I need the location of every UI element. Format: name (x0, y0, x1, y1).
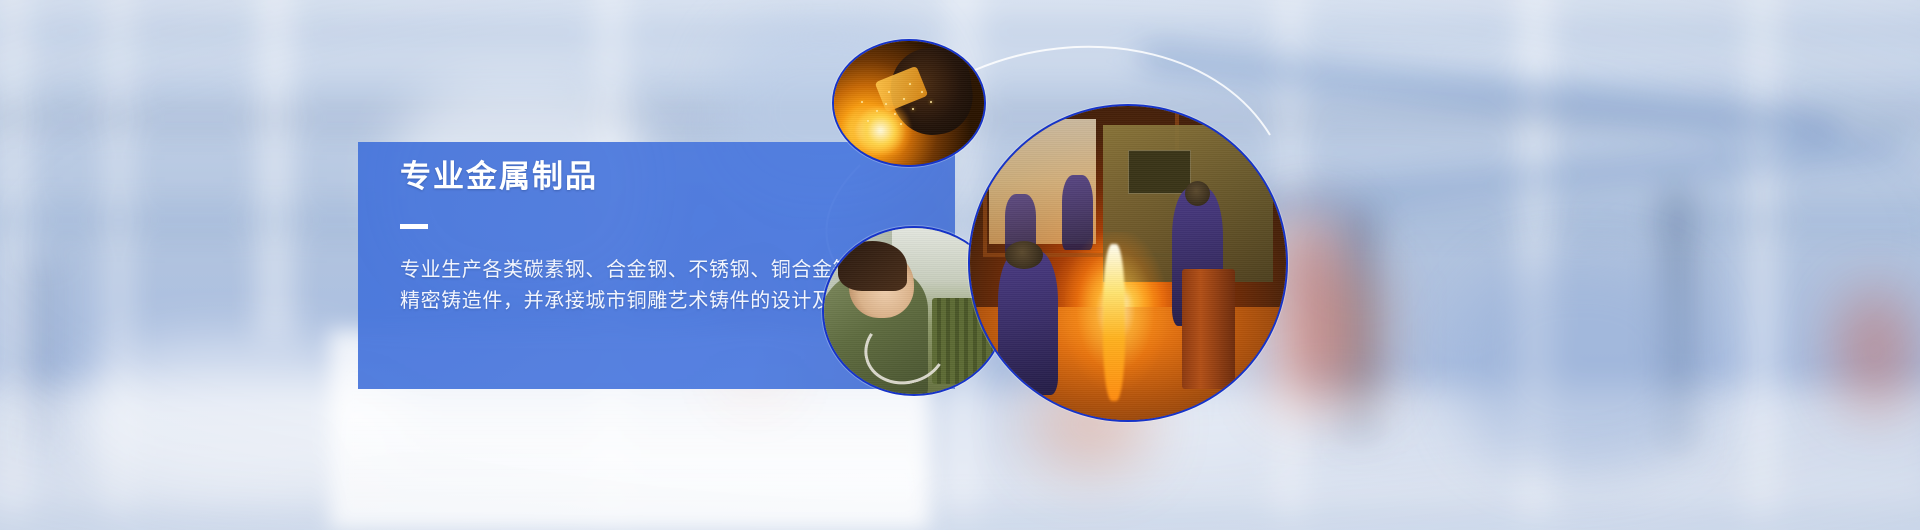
foundry-worker-1-head (1005, 241, 1043, 269)
foundry-worker-1 (998, 250, 1058, 394)
molten-metal-stream (1103, 244, 1125, 401)
foundry-ladle-drum (1182, 269, 1236, 388)
welding-photo (832, 39, 986, 167)
title-divider (400, 224, 428, 229)
foundry-photo (968, 104, 1288, 422)
weld-sparks (834, 41, 984, 165)
foundry-machine-panel (1128, 150, 1191, 194)
hero-banner: 专业金属制品 专业生产各类碳素钢、合金钢、不锈钢、铜合金等 精密铸造件，并承接城… (0, 0, 1920, 530)
inspection-worker-hair (838, 241, 906, 291)
